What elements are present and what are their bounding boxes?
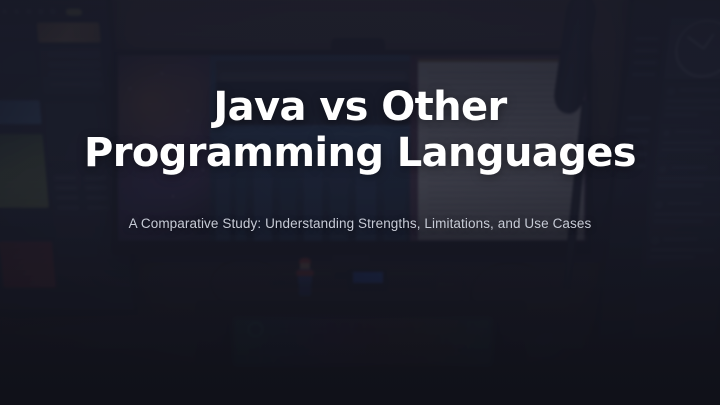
slide-subtitle: A Comparative Study: Understanding Stren… bbox=[110, 207, 610, 241]
slide-content: Java vs Other Programming Languages A Co… bbox=[0, 0, 720, 405]
title-slide: Java vs Other Programming Languages A Co… bbox=[0, 0, 720, 405]
slide-title: Java vs Other Programming Languages bbox=[69, 84, 651, 177]
